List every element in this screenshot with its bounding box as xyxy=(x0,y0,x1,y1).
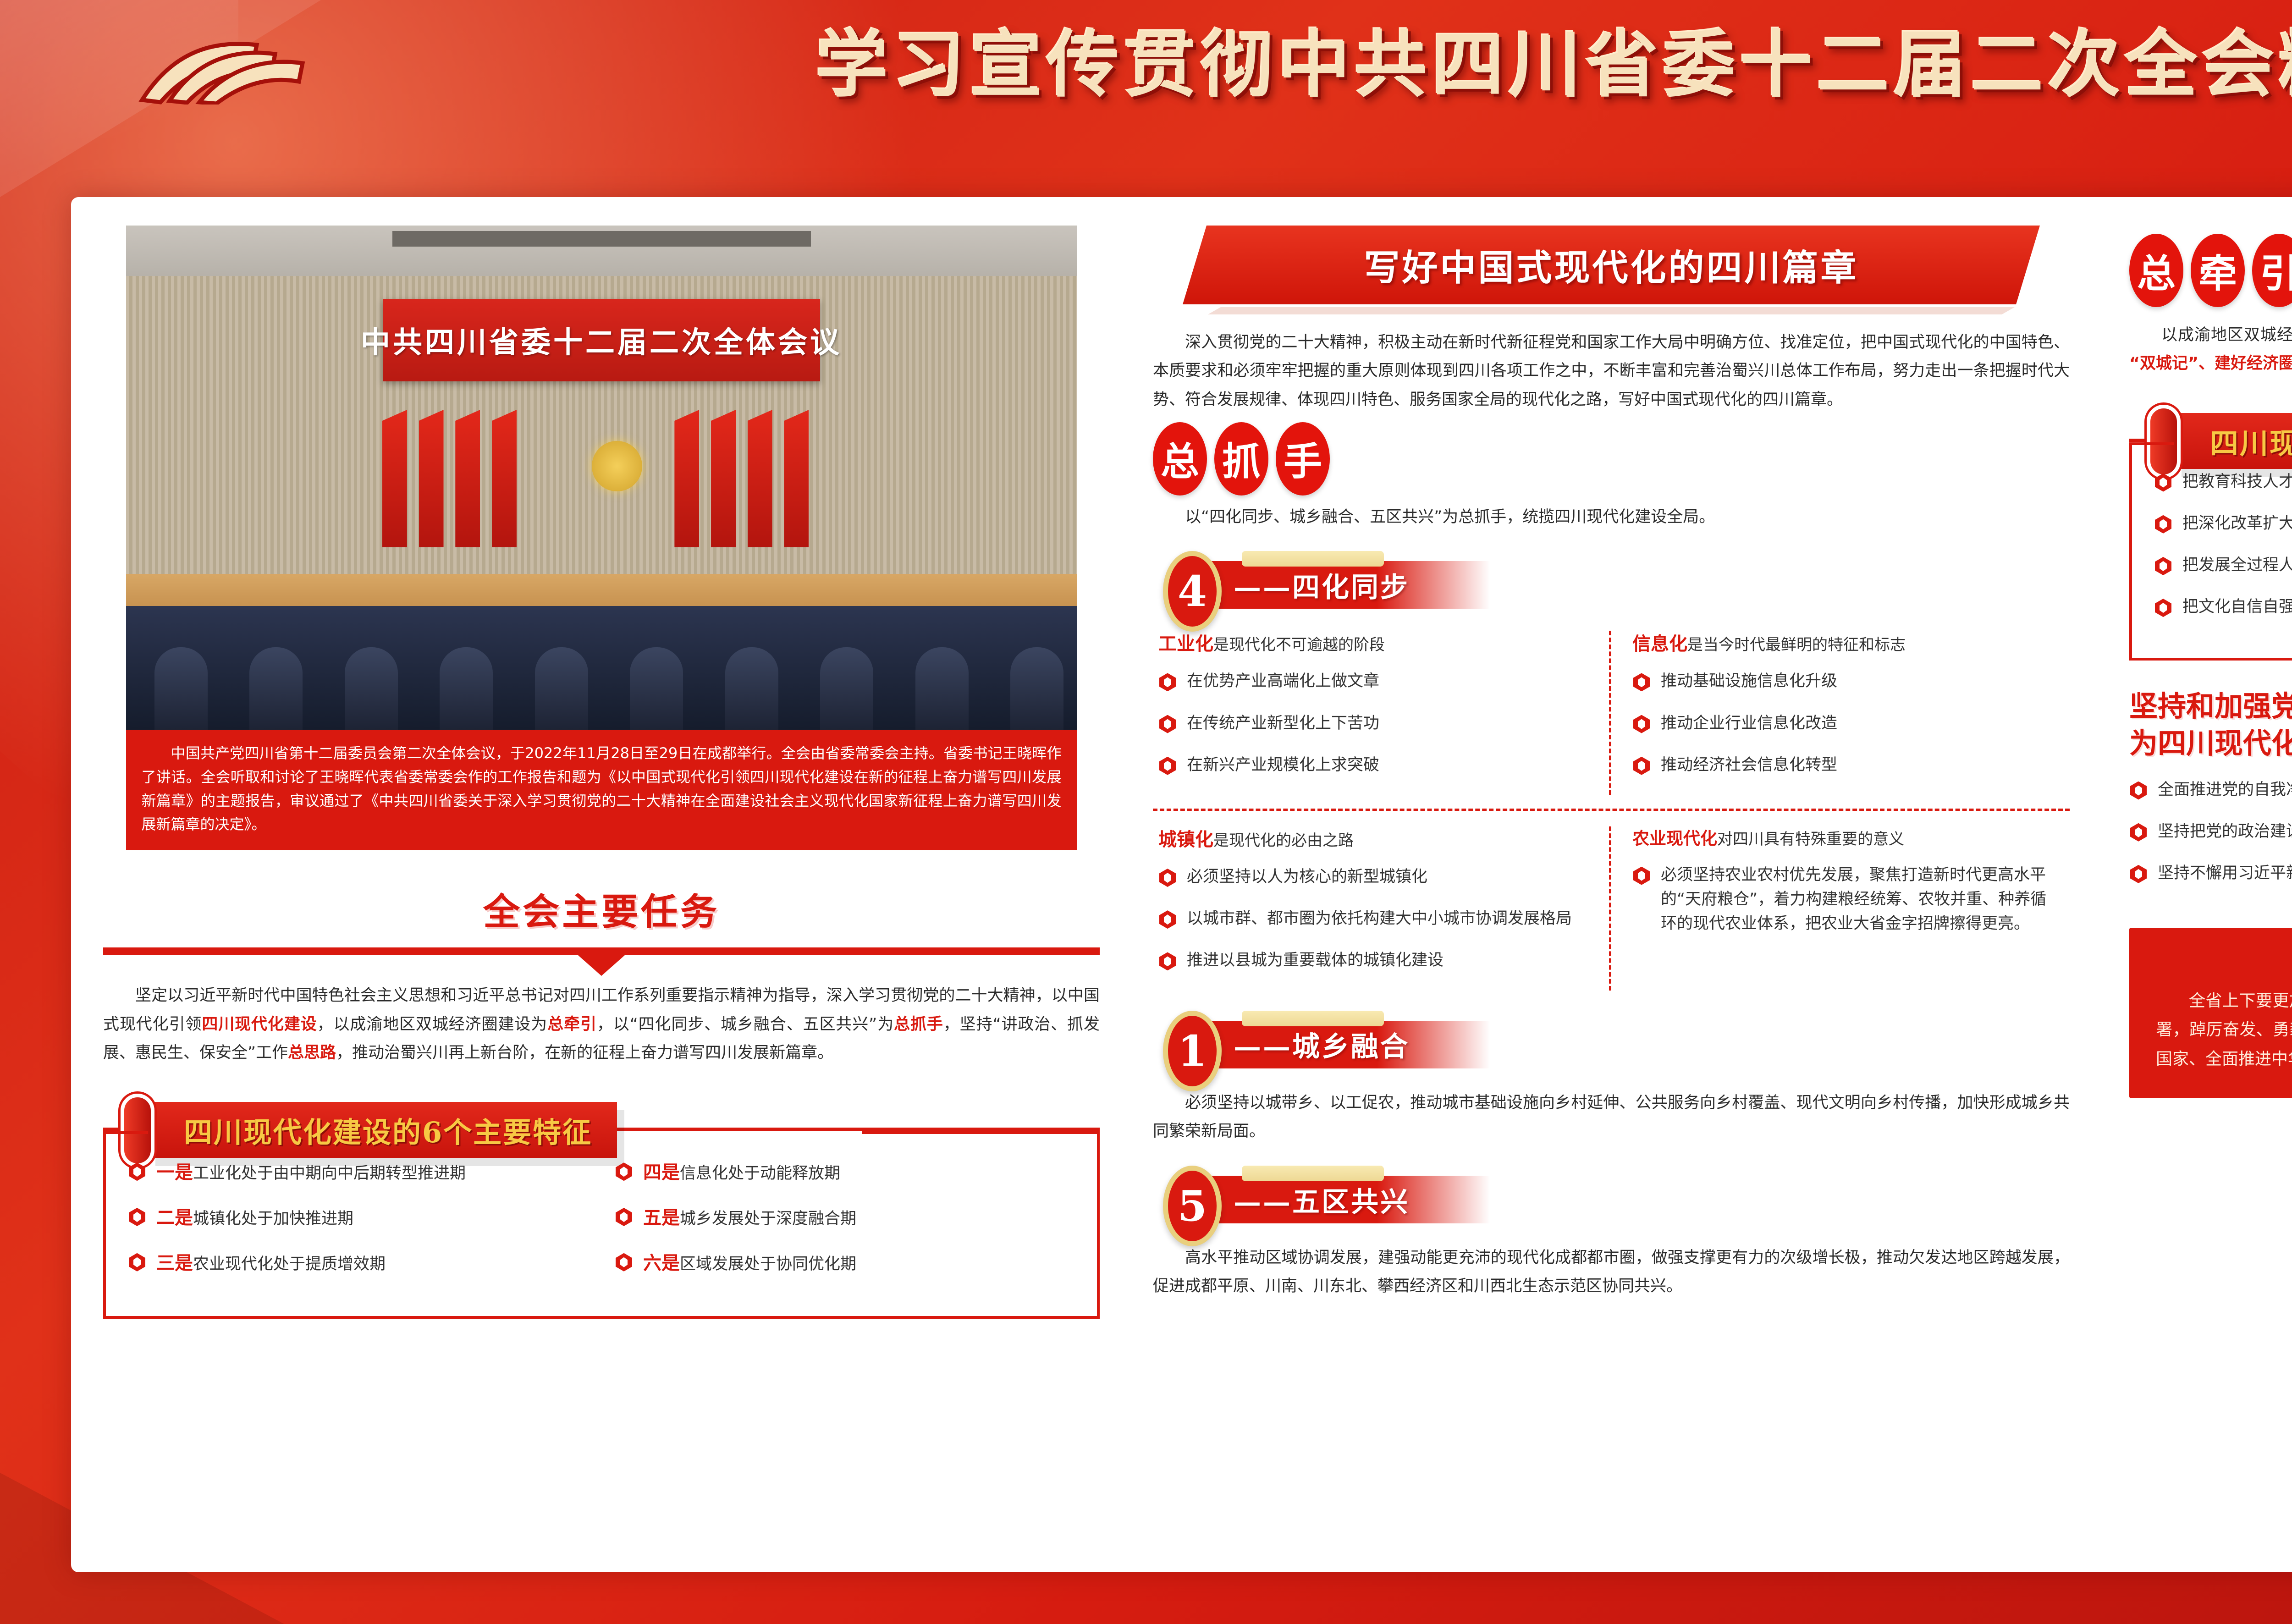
column-left: 中共四川省委十二届二次全体会议 中国共产党四川省第十二届委员会第二次全体会议，于… xyxy=(103,226,1125,1572)
list-item: 把发展全过程人民民主作为重要保障 xyxy=(2154,553,2292,578)
photo-stage-banner-text: 中共四川省委十二届二次全体会议 xyxy=(361,319,842,361)
content-canvas: 中共四川省委十二届二次全体会议 中国共产党四川省第十二届委员会第二次全体会议，于… xyxy=(71,197,2292,1572)
numbered-tab-1: ——城乡融合 1 xyxy=(1153,1011,2070,1075)
photo-stage-banner: 中共四川省委十二届二次全体会议 xyxy=(383,299,821,381)
photo-caption: 中国共产党四川省第十二届委员会第二次全体会议，于2022年11月28日至29日在… xyxy=(126,730,1077,850)
list-item: 必须坚持以人为核心的新型城镇化 xyxy=(1158,865,1590,889)
party-emblem-icon xyxy=(592,441,642,491)
list-item: 二是城镇化处于加快推进期 xyxy=(128,1204,588,1232)
list-item-label: 四是 xyxy=(643,1162,680,1183)
call-box-text: 全省上下要更加紧密地团结在以习近平同志为核心的党中央周围，全面贯彻落实党的二十大… xyxy=(2156,986,2292,1073)
list-item-text: 农业现代化处于提质增效期 xyxy=(193,1255,386,1273)
stamp-char-1: 抓 xyxy=(1214,422,1268,495)
tasks-list-left: 把教育科技人才作为战略先导把深化改革扩大开放作为根本动力把发展全过程人民民主作为… xyxy=(2154,470,2292,620)
quad-key-3: 农业现代化 xyxy=(1632,828,1717,848)
quad-cell-informatization: 信息化是当今时代最鲜明的特征和标志 推动基础设施信息化升级推动企业行业信息化改造… xyxy=(1611,631,2070,795)
column-right: 总 牵 引 以成渝地区双城经济圈建设作为四川现代化建设的总牵引，加强与重庆方面全… xyxy=(2097,226,2292,1572)
list-item: 把文化自信自强作为持久精神力量 xyxy=(2154,595,2292,619)
stamp-qianyin-char-2: 引 xyxy=(2252,234,2292,307)
quad-list-1: 推动基础设施信息化升级推动企业行业信息化改造推动经济社会信息化转型 xyxy=(1632,669,2050,777)
list-item: 三是农业现代化处于提质增效期 xyxy=(128,1250,588,1277)
quad-key-0: 工业化 xyxy=(1158,633,1213,655)
four-modernization-row-2: 城镇化是现代化的必由之路 必须坚持以人为核心的新型城镇化以城市群、都市圈为依托构… xyxy=(1153,826,2070,991)
list-item: 推进以县城为重要载体的城镇化建设 xyxy=(1158,948,1590,973)
highlighted-text: 总思路 xyxy=(288,1044,336,1062)
tasks-box: 把教育科技人才作为战略先导把深化改革扩大开放作为根本动力把发展全过程人民民主作为… xyxy=(2129,445,2292,661)
quad-head-1: 是当今时代最鲜明的特征和标志 xyxy=(1687,636,1906,654)
five-zone-paragraph: 高水平推动区域协调发展，建强动能更充沛的现代化成都都市圈，做强支撑更有力的次级增… xyxy=(1153,1244,2070,1301)
list-item: 五是城乡发展处于深度融合期 xyxy=(615,1204,1075,1232)
quad-key-2: 城镇化 xyxy=(1158,829,1213,850)
plain-text: ，以“四化同步、城乡融合、五区共兴”为 xyxy=(597,1015,894,1034)
quad-head-0: 是现代化不可逾越的阶段 xyxy=(1213,636,1385,654)
plain-text: 以成渝地区双城经济圈建设作为四川现代化建设的总牵引， xyxy=(2161,326,2292,344)
leadership-headline: 坚持和加强党的全面领导 为四川现代化建设提供坚强保证 xyxy=(2129,688,2292,762)
mid-intro-paragraph: 深入贯彻党的二十大精神，积极主动在新时代新征程党和国家工作大局中明确方位、找准定… xyxy=(1153,328,2070,414)
stamp-zongzhuashou-note: 以“四化同步、城乡融合、五区共兴”为总抓手，统揽四川现代化建设全局。 xyxy=(1153,504,2070,531)
arrow-divider xyxy=(103,947,1100,968)
leadership-list-left: 全面推进党的自我净化、自我完善、自我革新、自我提高坚持把党的政治建设摆在首位坚持… xyxy=(2129,778,2292,886)
conference-photo: 中共四川省委十二届二次全体会议 xyxy=(126,226,1077,730)
quad-list-0: 在优势产业高端化上做文章在传统产业新型化上下苦功在新兴产业规模化上求突破 xyxy=(1158,669,1590,777)
features-box: 一是工业化处于由中期向中后期转型推进期二是城镇化处于加快推进期三是农业现代化处于… xyxy=(103,1134,1100,1318)
numbered-tab-5-number: 5 xyxy=(1163,1166,1222,1246)
poster-header: 学习宣传贯彻中共四川省委十二届二次全会精神 xyxy=(0,0,2292,117)
list-item: 全面推进党的自我净化、自我完善、自我革新、自我提高 xyxy=(2129,778,2292,802)
list-item-text: 信息化处于动能释放期 xyxy=(680,1164,840,1183)
quad-cell-urbanization: 城镇化是现代化的必由之路 必须坚持以人为核心的新型城镇化以城市群、都市圈为依托构… xyxy=(1153,826,1611,991)
photo-audience xyxy=(126,606,1077,730)
features-list-right: 四是信息化处于动能释放期五是城乡发展处于深度融合期六是区域发展处于协同优化期 xyxy=(615,1159,1075,1277)
leadership-headline-line1: 坚持和加强党的全面领导 xyxy=(2129,688,2292,725)
poster-background: 学习宣传贯彻中共四川省委十二届二次全会精神 中共四川省委十二届二次全体会议 xyxy=(0,0,2292,1624)
list-item: 坚持不懈用习近平新时代中国特色社会主义思想凝心铸魂 xyxy=(2129,861,2292,886)
column-middle: 写好中国式现代化的四川篇章 深入贯彻党的二十大精神，积极主动在新时代新征程党和国… xyxy=(1125,226,2097,1572)
highlighted-text: 总牵引 xyxy=(547,1015,597,1034)
main-task-title: 全会主要任务 xyxy=(103,882,1100,936)
conference-photo-block: 中共四川省委十二届二次全体会议 中国共产党四川省第十二届委员会第二次全体会议，于… xyxy=(126,226,1077,850)
list-item-label: 三是 xyxy=(156,1252,193,1274)
numbered-tab-5-label: ——五区共兴 xyxy=(1234,1180,1410,1220)
list-item: 推动企业行业信息化改造 xyxy=(1632,711,2050,736)
list-item: 一是工业化处于由中期向中后期转型推进期 xyxy=(128,1159,588,1187)
flag-icon-left xyxy=(138,36,330,105)
numbered-tab-4-label: ——四化同步 xyxy=(1234,565,1410,605)
list-item: 在传统产业新型化上下苦功 xyxy=(1158,711,1590,736)
urban-rural-paragraph: 必须坚持以城带乡、以工促农，推动城市基础设施向乡村延伸、公共服务向乡村覆盖、现代… xyxy=(1153,1089,2070,1146)
page-title: 学习宣传贯彻中共四川省委十二届二次全会精神 xyxy=(816,6,2292,111)
list-item: 把教育科技人才作为战略先导 xyxy=(2154,470,2292,494)
quad-list-2: 必须坚持以人为核心的新型城镇化以城市群、都市圈为依托构建大中小城市协调发展格局推… xyxy=(1158,865,1590,973)
list-item-label: 六是 xyxy=(643,1252,680,1274)
numbered-tab-1-label: ——城乡融合 xyxy=(1234,1024,1410,1064)
highlighted-text: 四川现代化建设 xyxy=(202,1015,317,1034)
main-task-paragraph: 坚定以习近平新时代中国特色社会主义思想和习近平总书记对四川工作系列重要指示精神为… xyxy=(103,981,1100,1067)
numbered-tab-4-number: 4 xyxy=(1163,551,1222,632)
qianyin-paragraph: 以成渝地区双城经济圈建设作为四川现代化建设的总牵引，加强与重庆方面全方位协作，在… xyxy=(2129,321,2292,378)
mid-plaque-title: 写好中国式现代化的四川篇章 xyxy=(1364,239,1858,291)
list-item: 四是信息化处于动能释放期 xyxy=(615,1159,1075,1187)
stamp-char-0: 总 xyxy=(1153,422,1207,495)
list-item: 推动经济社会信息化转型 xyxy=(1632,753,2050,777)
list-item: 坚持把党的政治建设摆在首位 xyxy=(2129,820,2292,844)
list-item-label: 一是 xyxy=(156,1162,193,1183)
mid-plaque-title-box: 写好中国式现代化的四川篇章 xyxy=(1183,226,2040,304)
list-item-text: 工业化处于由中期向中后期转型推进期 xyxy=(193,1164,466,1183)
list-item: 推动基础设施信息化升级 xyxy=(1632,669,2050,694)
list-item-label: 五是 xyxy=(643,1207,680,1228)
highlighted-text: 总抓手 xyxy=(894,1015,943,1034)
stamp-char-2: 手 xyxy=(1276,422,1330,495)
four-modernization-row-1: 工业化是现代化不可逾越的阶段 在优势产业高端化上做文章在传统产业新型化上下苦功在… xyxy=(1153,631,2070,795)
plain-text: ，推动治蜀兴川再上新台阶，在新的征程上奋力谱写四川发展新篇章。 xyxy=(336,1044,833,1062)
stamp-zongqianyin: 总 牵 引 xyxy=(2129,234,2292,307)
call-box: 全会号召 全省上下要更加紧密地团结在以习近平同志为核心的党中央周围，全面贯彻落实… xyxy=(2129,928,2292,1098)
leadership-headline-line2: 为四川现代化建设提供坚强保证 xyxy=(2129,725,2292,762)
photo-ceiling xyxy=(126,226,1077,281)
numbered-tab-5: ——五区共兴 5 xyxy=(1153,1166,2070,1230)
mid-plaque-shadow xyxy=(1208,307,2015,314)
quad-cell-agri-modernization: 农业现代化对四川具有特殊重要的意义 必须坚持农业农村优先发展，聚焦打造新时代更高… xyxy=(1611,826,2070,991)
quad-list-3: 必须坚持农业农村优先发展，聚焦打造新时代更高水平的“天府粮仓”，着力构建粮经统筹… xyxy=(1632,863,2050,936)
list-item-text: 城乡发展处于深度融合期 xyxy=(680,1210,856,1228)
list-item-label: 二是 xyxy=(156,1207,193,1228)
list-item: 必须坚持农业农村优先发展，聚焦打造新时代更高水平的“天府粮仓”，着力构建粮经统筹… xyxy=(1632,863,2050,936)
stamp-qianyin-char-0: 总 xyxy=(2129,234,2183,307)
list-item: 六是区域发展处于协同优化期 xyxy=(615,1250,1075,1277)
list-item-text: 城镇化处于加快推进期 xyxy=(193,1210,353,1228)
stamp-zongzhuashou: 总 抓 手 xyxy=(1153,422,2070,495)
list-item: 以城市群、都市圈为依托构建大中小城市协调发展格局 xyxy=(1158,907,1590,931)
quad-head-3: 对四川具有特殊重要的意义 xyxy=(1717,830,1904,848)
quad-cell-industrialization: 工业化是现代化不可逾越的阶段 在优势产业高端化上做文章在传统产业新型化上下苦功在… xyxy=(1153,631,1611,795)
list-item: 在新兴产业规模化上求突破 xyxy=(1158,753,1590,777)
list-item-text: 区域发展处于协同优化期 xyxy=(680,1255,856,1273)
quad-head-2: 是现代化的必由之路 xyxy=(1213,831,1354,850)
quad-key-1: 信息化 xyxy=(1632,633,1687,655)
numbered-tab-4: ——四化同步 4 xyxy=(1153,551,2070,615)
list-item: 把深化改革扩大开放作为根本动力 xyxy=(2154,512,2292,536)
features-list-left: 一是工业化处于由中期向中后期转型推进期二是城镇化处于加快推进期三是农业现代化处于… xyxy=(128,1159,588,1277)
numbered-tab-1-number: 1 xyxy=(1163,1011,1222,1091)
plain-text: ，以成渝地区双城经济圈建设为 xyxy=(317,1015,548,1034)
stamp-qianyin-char-1: 牵 xyxy=(2191,234,2245,307)
list-item: 在优势产业高端化上做文章 xyxy=(1158,669,1590,694)
quad-separator xyxy=(1153,809,2070,811)
